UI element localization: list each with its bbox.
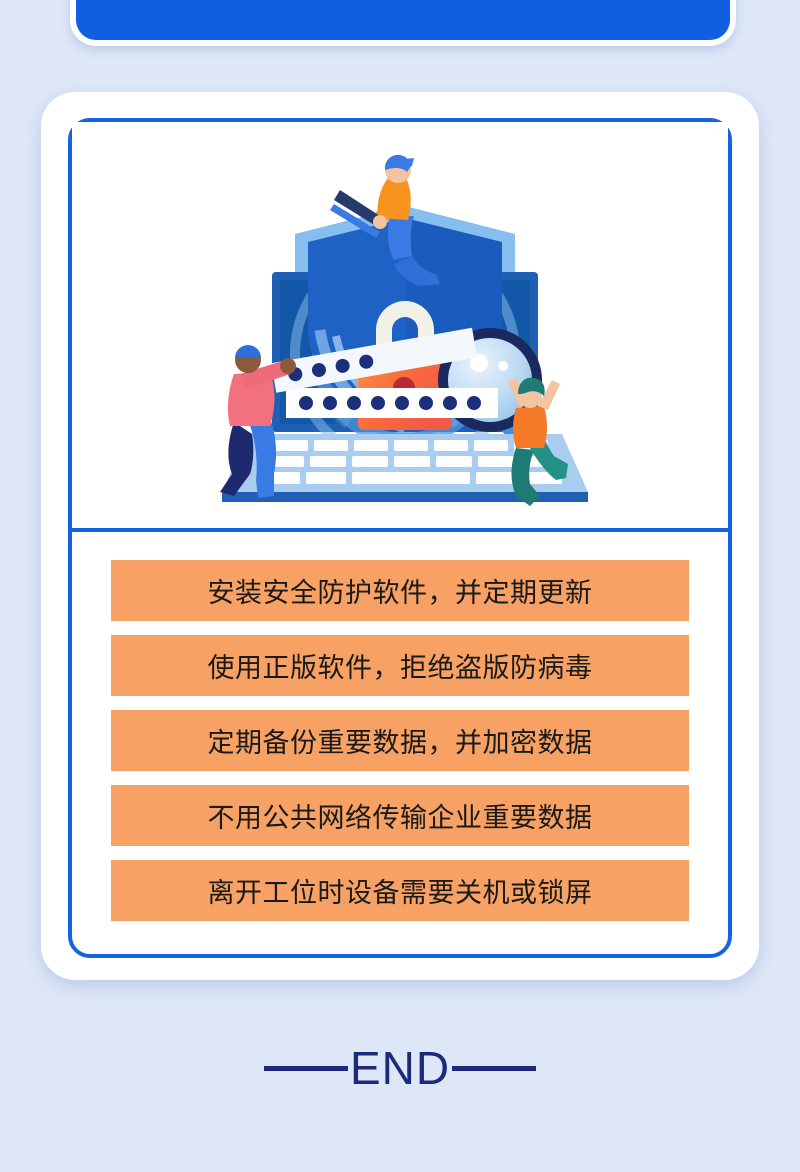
password-bar-8-dots [286,388,498,418]
tip-item-5[interactable]: 离开工位时设备需要关机或锁屏 [111,860,689,921]
tip-item-label: 定期备份重要数据，并加密数据 [208,721,593,760]
tip-item-3[interactable]: 定期备份重要数据，并加密数据 [111,710,689,771]
tip-item-label: 离开工位时设备需要关机或锁屏 [208,871,593,910]
office-security-illustration [190,122,610,522]
end-footer: END [0,1045,800,1091]
illustration-pane [72,122,728,532]
tip-item-1[interactable]: 安装安全防护软件，并定期更新 [111,560,689,621]
tip-item-label: 安装安全防护软件，并定期更新 [208,571,593,610]
tip-item-4[interactable]: 不用公共网络传输企业重要数据 [111,785,689,846]
tips-list: 安装安全防护软件，并定期更新 使用正版软件，拒绝盗版防病毒 定期备份重要数据，并… [72,532,728,954]
page-title: 办公安全需注意，日常防护不马虎 [125,0,680,40]
tip-item-2[interactable]: 使用正版软件，拒绝盗版防病毒 [111,635,689,696]
content-card-border: 安装安全防护软件，并定期更新 使用正版软件，拒绝盗版防病毒 定期备份重要数据，并… [68,118,732,958]
tip-item-label: 不用公共网络传输企业重要数据 [208,796,593,835]
banner-inner: 办公安全需注意，日常防护不马虎 [76,0,730,40]
end-rule-right [452,1066,536,1071]
end-label: END [348,1045,452,1091]
header-banner: 办公安全需注意，日常防护不马虎 [70,0,736,46]
content-card: 安装安全防护软件，并定期更新 使用正版软件，拒绝盗版防病毒 定期备份重要数据，并… [41,92,759,980]
tip-item-label: 使用正版软件，拒绝盗版防病毒 [208,646,593,685]
end-rule-left [264,1066,348,1071]
